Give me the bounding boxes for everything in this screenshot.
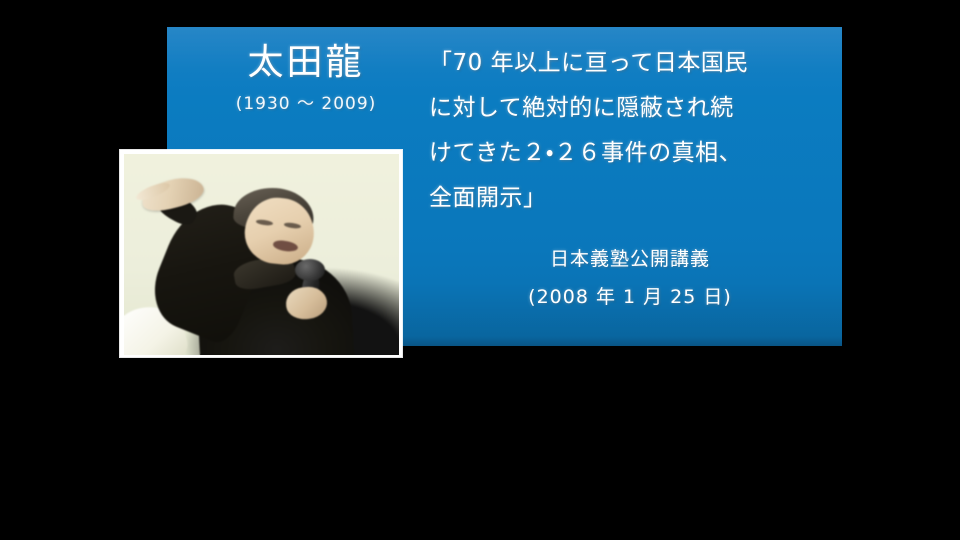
quote-line-3: けてきた２・２６事件の真相、 — [429, 131, 831, 176]
speaker-photo-frame — [120, 150, 402, 357]
speaker-photo — [124, 154, 399, 355]
attribution-venue: 日本義塾公開講義 — [429, 240, 831, 278]
speaker-name-block: 太田龍 (1930 ～ 2009) — [197, 41, 415, 115]
quote-line-1: 「70 年以上に亘って日本国民 — [429, 41, 831, 86]
photo-microphone-head — [295, 259, 325, 281]
attribution-block: 日本義塾公開講義 (2008 年 1 月 25 日) — [429, 240, 831, 316]
video-slide-stage: 太田龍 (1930 ～ 2009) 「70 年以上に亘って日本国民 に対して絶対… — [0, 0, 960, 540]
quote-text-block: 「70 年以上に亘って日本国民 に対して絶対的に隠蔽され続 けてきた２・２６事件… — [429, 41, 831, 221]
speaker-lifespan: (1930 ～ 2009) — [197, 93, 415, 115]
quote-line-4: 全面開示」 — [429, 176, 831, 221]
quote-line-2: に対して絶対的に隠蔽され続 — [429, 86, 831, 131]
attribution-date: (2008 年 1 月 25 日) — [429, 278, 831, 316]
speaker-name: 太田龍 — [197, 41, 415, 85]
